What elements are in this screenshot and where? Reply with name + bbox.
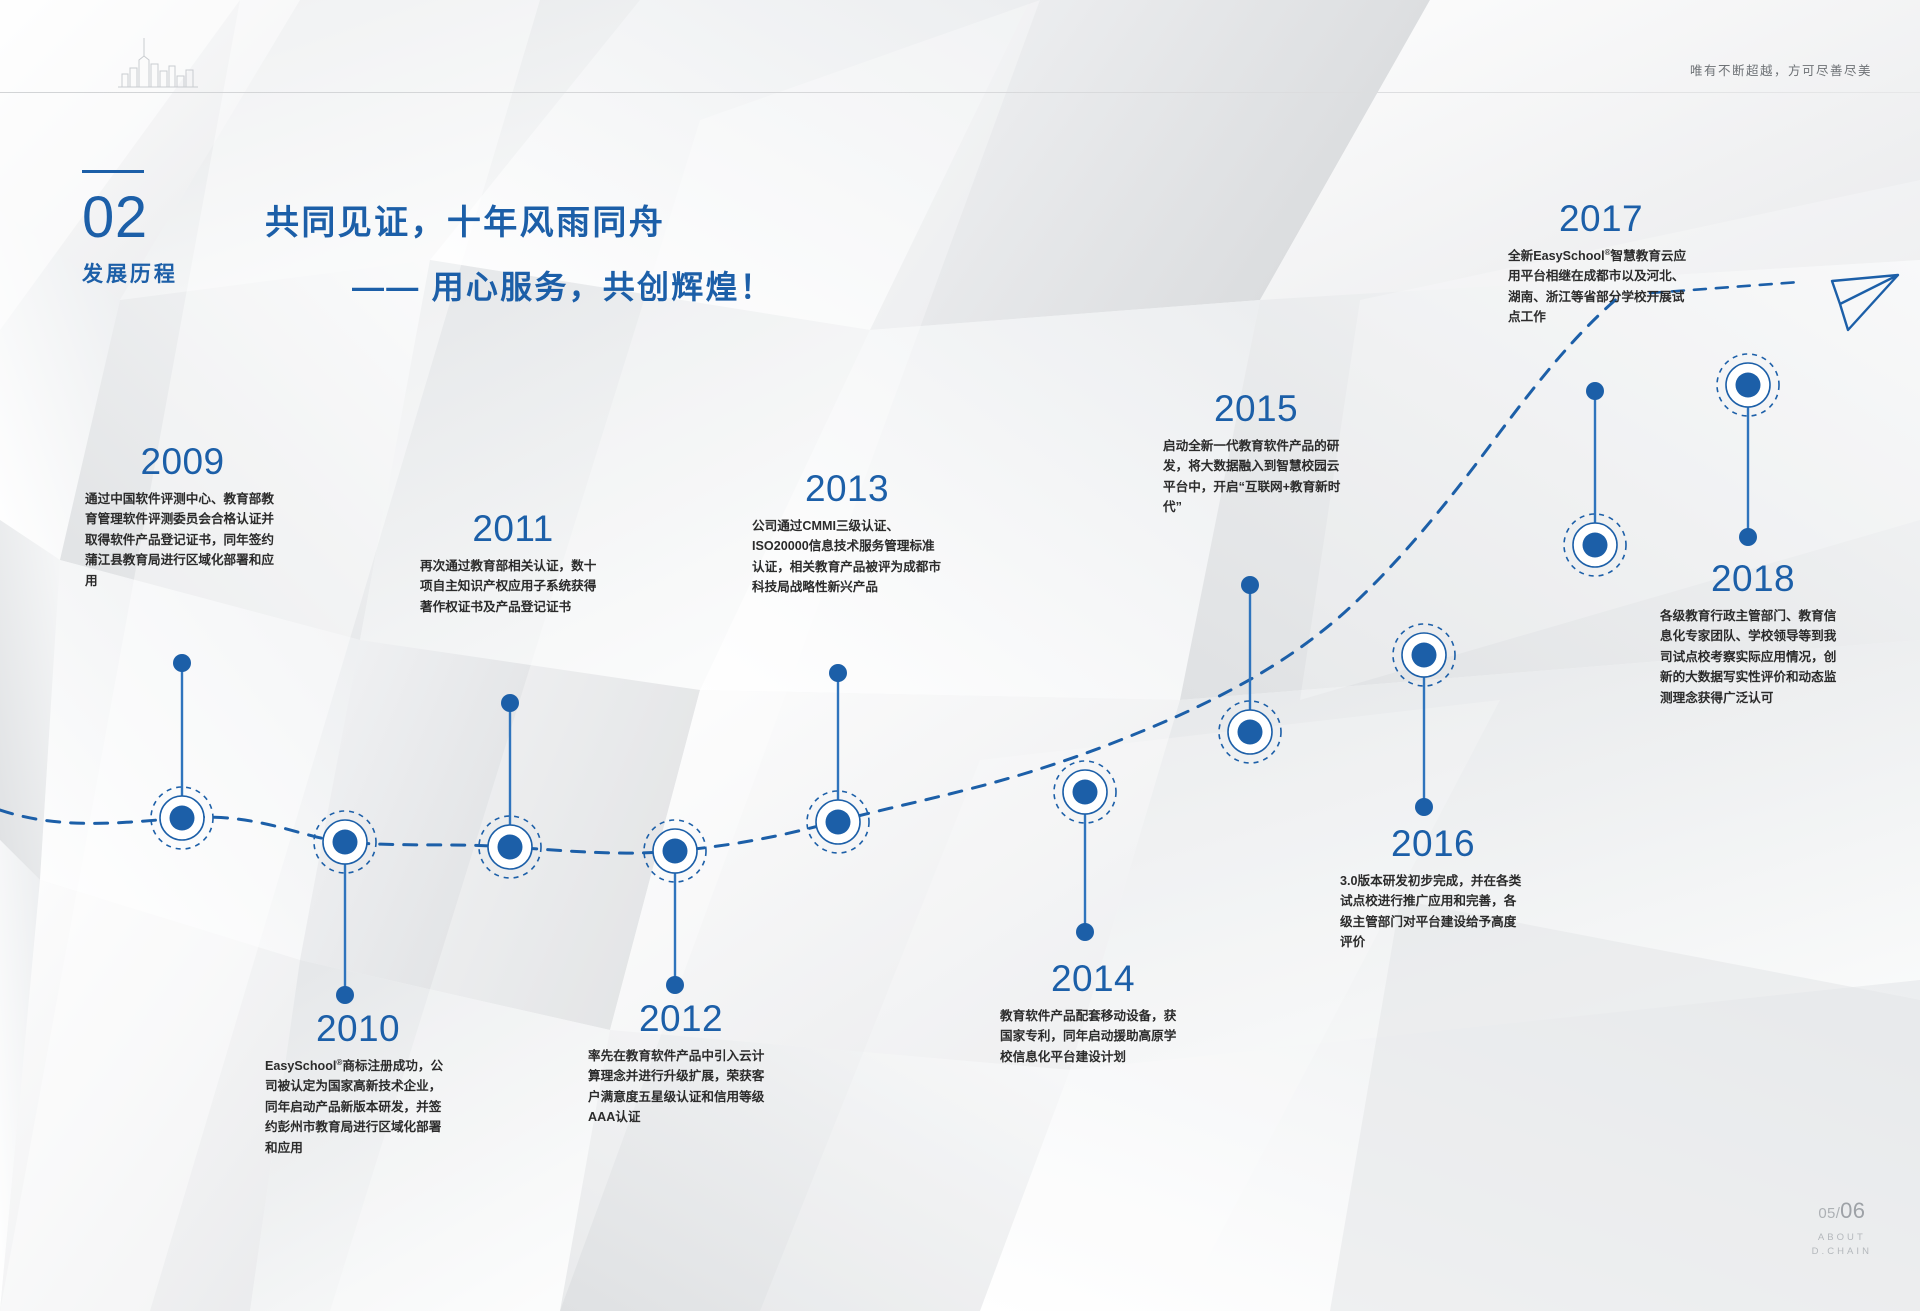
milestone-text: 启动全新一代教育软件产品的研发，将大数据融入到智慧校园云平台中，开启“互联网+教… (1163, 436, 1349, 518)
milestone-year: 2011 (420, 510, 606, 547)
milestone-2018: 2018 各级教育行政主管部门、教育信息化专家团队、学校领导等到我司试点校考察实… (1660, 560, 1846, 708)
timeline-node-2011 (479, 694, 541, 878)
milestone-2009: 2009 通过中国软件评测中心、教育部教育管理软件评测委员会合格认证并取得软件产… (85, 443, 280, 591)
page-number-total: 06 (1840, 1198, 1865, 1223)
milestone-text: 再次通过教育部相关认证，数十项自主知识产权应用子系统获得著作权证书及产品登记证书 (420, 556, 606, 617)
milestone-text: 率先在教育软件产品中引入云计算理念并进行升级扩展，荣获客户满意度五星级认证和信用… (588, 1046, 774, 1128)
milestone-2014: 2014 教育软件产品配套移动设备，获国家专利，同年启动援助高原学校信息化平台建… (1000, 960, 1186, 1067)
brand-mark: ABOUT D.CHAIN (1812, 1231, 1872, 1260)
brand-line-2: D.CHAIN (1812, 1245, 1872, 1259)
milestone-text: EasySchool®商标注册成功，公司被认定为国家高新技术企业，同年启动产品新… (265, 1056, 451, 1158)
milestone-2013: 2013 公司通过CMMI三级认证、ISO20000信息技术服务管理标准认证，相… (752, 470, 942, 598)
timeline-node-2018 (1717, 354, 1779, 546)
timeline-node-2014 (1054, 761, 1116, 941)
timeline-node-2010 (314, 811, 376, 1004)
milestone-year: 2009 (85, 443, 280, 480)
milestone-text: 全新EasySchool®智慧教育云应用平台相继在成都市以及河北、湖南、浙江等省… (1508, 246, 1694, 328)
page-number-current: 05 (1818, 1205, 1835, 1222)
timeline-node-2016 (1393, 624, 1455, 816)
milestone-text: 教育软件产品配套移动设备，获国家专利，同年启动援助高原学校信息化平台建设计划 (1000, 1006, 1186, 1067)
milestone-year: 2012 (588, 1000, 774, 1037)
milestone-text: 3.0版本研发初步完成，并在各类试点校进行推广应用和完善，各级主管部门对平台建设… (1340, 871, 1526, 953)
milestone-2011: 2011 再次通过教育部相关认证，数十项自主知识产权应用子系统获得著作权证书及产… (420, 510, 606, 617)
timeline-node-2009 (151, 654, 213, 849)
milestone-text: 公司通过CMMI三级认证、ISO20000信息技术服务管理标准认证，相关教育产品… (752, 516, 942, 598)
milestone-year: 2010 (265, 1010, 451, 1047)
timeline-node-2015 (1219, 576, 1281, 763)
timeline-node-2017 (1564, 382, 1626, 576)
milestone-2017: 2017 全新EasySchool®智慧教育云应用平台相继在成都市以及河北、湖南… (1508, 200, 1694, 328)
brand-line-1: ABOUT (1812, 1231, 1872, 1245)
milestone-2012: 2012 率先在教育软件产品中引入云计算理念并进行升级扩展，荣获客户满意度五星级… (588, 1000, 774, 1128)
milestone-year: 2016 (1340, 825, 1526, 862)
milestone-text: 通过中国软件评测中心、教育部教育管理软件评测委员会合格认证并取得软件产品登记证书… (85, 489, 280, 591)
page-footer: 05/06 ABOUT D.CHAIN (1812, 1198, 1872, 1260)
timeline-node-2012 (644, 820, 706, 994)
milestone-text: 各级教育行政主管部门、教育信息化专家团队、学校领导等到我司试点校考察实际应用情况… (1660, 606, 1846, 708)
milestone-2015: 2015 启动全新一代教育软件产品的研发，将大数据融入到智慧校园云平台中，开启“… (1163, 390, 1349, 518)
milestone-year: 2017 (1508, 200, 1694, 237)
page-number: 05/06 (1812, 1198, 1872, 1224)
infographic-page: 唯有不断超越，方可尽善尽美 02 发展历程 共同见证，十年风雨同舟 —— 用心服… (0, 0, 1920, 1311)
milestone-2010: 2010 EasySchool®商标注册成功，公司被认定为国家高新技术企业，同年… (265, 1010, 451, 1158)
milestone-year: 2013 (752, 470, 942, 507)
milestone-year: 2015 (1163, 390, 1349, 427)
milestone-2016: 2016 3.0版本研发初步完成，并在各类试点校进行推广应用和完善，各级主管部门… (1340, 825, 1526, 953)
milestone-year: 2014 (1000, 960, 1186, 997)
timeline-node-2013 (807, 664, 869, 853)
milestone-year: 2018 (1660, 560, 1846, 597)
